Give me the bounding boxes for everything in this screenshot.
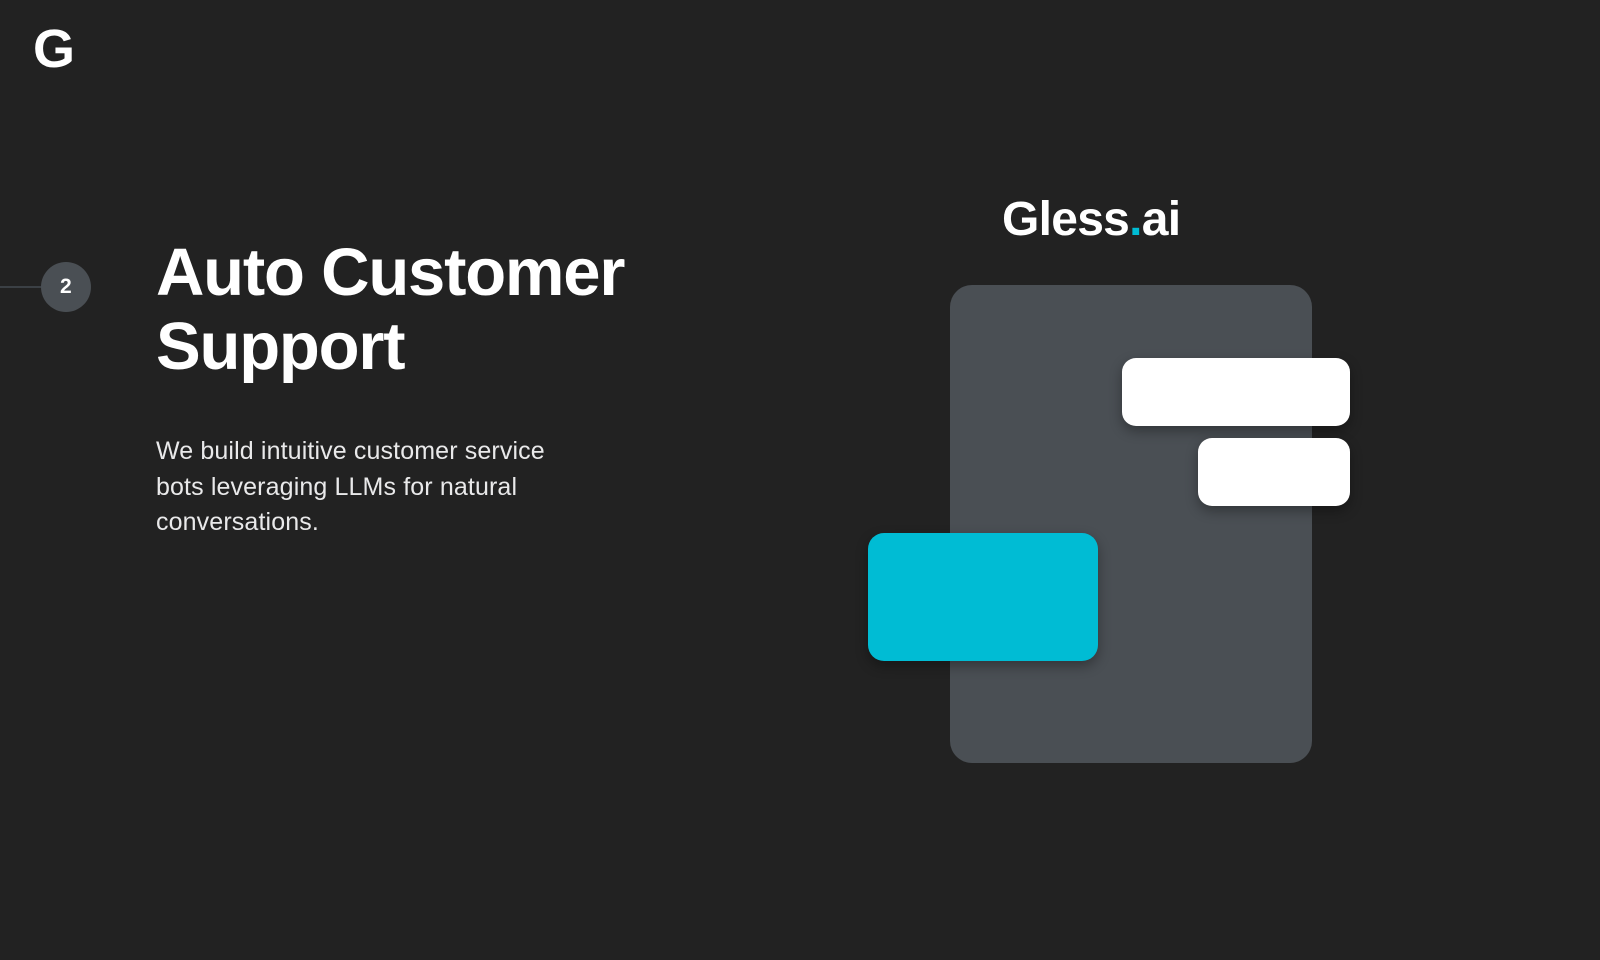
illustration: Gless.ai (860, 180, 1420, 780)
chat-bubble-incoming-1 (1122, 358, 1350, 426)
brand-logo-g: G (33, 22, 74, 76)
gless-ai-logo: Gless.ai (1002, 196, 1180, 244)
step-connector-line (0, 286, 46, 288)
slide-root: G 2 Auto Customer Support We build intui… (0, 0, 1600, 960)
chat-bubble-incoming-2 (1198, 438, 1350, 506)
page-description: We build intuitive customer service bots… (156, 434, 576, 541)
text-block: Auto Customer Support We build intuitive… (156, 236, 756, 383)
step-number-label: 2 (60, 275, 72, 299)
chat-panel-card (950, 285, 1312, 763)
logo-name: Gless (1002, 193, 1129, 246)
step-number-badge: 2 (41, 262, 91, 312)
logo-suffix: ai (1142, 193, 1181, 246)
chat-bubble-outgoing-1 (868, 533, 1098, 661)
page-title: Auto Customer Support (156, 236, 716, 383)
logo-dot-accent: . (1129, 193, 1142, 246)
